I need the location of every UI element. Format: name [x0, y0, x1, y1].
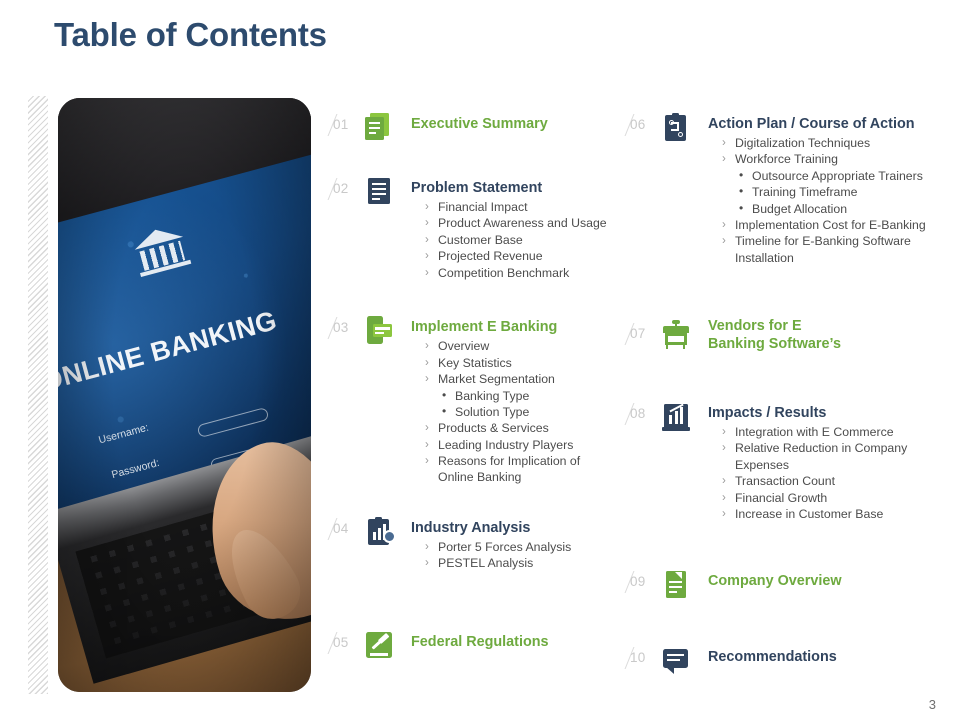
- chevron-bullet-icon: ›: [722, 506, 735, 522]
- list-item: ›Market Segmentation: [411, 371, 615, 387]
- list-item-label: Competition Benchmark: [438, 265, 615, 281]
- entry-title: Recommendations: [708, 645, 947, 666]
- list-item: ›Overview: [411, 338, 615, 354]
- toc-entry-06[interactable]: 06 Action Plan / Course of Action ›Digit…: [622, 112, 947, 266]
- entry-number-wrap: 05: [325, 630, 365, 650]
- entry-title: Executive Summary: [411, 112, 615, 133]
- entry-number: 06: [622, 117, 662, 132]
- chevron-bullet-icon: ›: [425, 265, 438, 281]
- dot-bullet-icon: •: [739, 168, 752, 184]
- entry-body: Impacts / Results ›Integration with E Co…: [708, 401, 947, 522]
- entry-number: 02: [325, 181, 365, 196]
- entry-number-wrap: 01: [325, 112, 365, 132]
- list-item-label: Reasons for Implication of Online Bankin…: [438, 453, 600, 486]
- list-item: ›PESTEL Analysis: [411, 555, 615, 571]
- documents-stack-icon: [365, 113, 393, 142]
- list-item-label: Banking Type: [455, 388, 529, 404]
- chevron-bullet-icon: ›: [425, 555, 438, 571]
- list-item: ›Implementation Cost for E-Banking: [708, 217, 947, 233]
- chevron-bullet-icon: ›: [425, 355, 438, 371]
- list-item-label: Financial Impact: [438, 199, 615, 215]
- document-lines-icon: [365, 177, 393, 206]
- entry-body: Recommendations: [708, 645, 947, 666]
- chevron-bullet-icon: ›: [425, 248, 438, 264]
- list-item-nested: •Banking Type: [411, 388, 615, 404]
- toc-entry-02[interactable]: 02 Problem Statement ›Financial Impact ›…: [325, 176, 615, 281]
- list-item-label: Budget Allocation: [752, 201, 847, 217]
- list-item-label: Transaction Count: [735, 473, 947, 489]
- list-item-label: Integration with E Commerce: [735, 424, 947, 440]
- photo-panel: ONLINE BANKING Username: Password: OTP:: [28, 96, 313, 694]
- chevron-bullet-icon: ›: [722, 217, 735, 233]
- entry-number-wrap: 02: [325, 176, 365, 196]
- entry-icon-cell: [662, 112, 708, 142]
- chevron-bullet-icon: ›: [425, 215, 438, 231]
- list-item: ›Increase in Customer Base: [708, 506, 947, 522]
- list-item-label: Outsource Appropriate Trainers: [752, 168, 923, 184]
- list-item: ›Leading Industry Players: [411, 437, 615, 453]
- list-item-label: Financial Growth: [735, 490, 947, 506]
- list-item: ›Key Statistics: [411, 355, 615, 371]
- entry-body: Federal Regulations: [411, 630, 615, 651]
- toc-entry-07[interactable]: 07 Vendors for E Banking Software’s: [622, 314, 947, 353]
- entry-number: 01: [325, 117, 365, 132]
- entry-icon-cell: [662, 645, 708, 675]
- toc-column-right: 06 Action Plan / Course of Action ›Digit…: [622, 112, 947, 675]
- entry-number: 05: [325, 635, 365, 650]
- chevron-bullet-icon: ›: [425, 232, 438, 248]
- chevron-bullet-icon: ›: [722, 490, 735, 506]
- list-item-label: PESTEL Analysis: [438, 555, 615, 571]
- list-item: ›Relative Reduction in Company Expenses: [708, 440, 947, 473]
- toc-entry-09[interactable]: 09 Company Overview: [622, 569, 947, 599]
- entry-icon-cell: [365, 176, 411, 206]
- toc-entry-05[interactable]: 05 Federal Regulations: [325, 630, 615, 660]
- entry-title: Problem Statement: [411, 176, 615, 197]
- entry-sublist: ›Integration with E Commerce ›Relative R…: [708, 424, 947, 522]
- entry-title: Company Overview: [708, 569, 947, 590]
- chevron-bullet-icon: ›: [425, 539, 438, 555]
- list-item-label: Market Segmentation: [438, 371, 615, 387]
- list-item-label: Leading Industry Players: [438, 437, 615, 453]
- entry-number-wrap: 10: [622, 645, 662, 665]
- entry-number-wrap: 04: [325, 516, 365, 536]
- entry-sublist: ›Porter 5 Forces Analysis ›PESTEL Analys…: [411, 539, 615, 572]
- list-item-label: Overview: [438, 338, 615, 354]
- entry-number-wrap: 07: [622, 314, 662, 341]
- list-item-label: Products & Services: [438, 420, 615, 436]
- entry-number: 08: [622, 406, 662, 421]
- chevron-bullet-icon: ›: [425, 437, 438, 453]
- entry-number: 03: [325, 320, 365, 335]
- entry-icon-cell: [662, 569, 708, 599]
- list-item: ›Porter 5 Forces Analysis: [411, 539, 615, 555]
- entry-icon-cell: [365, 516, 411, 546]
- entry-body: Vendors for E Banking Software’s: [708, 314, 947, 353]
- page-title: Table of Contents: [54, 16, 327, 54]
- chevron-bullet-icon: ›: [425, 453, 438, 469]
- list-item: ›Product Awareness and Usage: [411, 215, 615, 231]
- list-item: ›Financial Growth: [708, 490, 947, 506]
- list-item: ›Transaction Count: [708, 473, 947, 489]
- page-number: 3: [929, 697, 936, 712]
- entry-icon-cell: [365, 112, 411, 142]
- photo-vignette: [58, 98, 311, 692]
- entry-title: Impacts / Results: [708, 401, 947, 422]
- list-item-label: Customer Base: [438, 232, 615, 248]
- toc-entry-01[interactable]: 01 Executive Summary: [325, 112, 615, 142]
- entry-body: Industry Analysis ›Porter 5 Forces Analy…: [411, 516, 615, 572]
- list-item-label: Digitalization Techniques: [735, 135, 947, 151]
- entry-title: Vendors for E Banking Software’s: [708, 314, 858, 353]
- hatch-decoration: [28, 96, 48, 694]
- toc-entry-08[interactable]: 08 Impacts / Results ›Integration with E…: [622, 401, 947, 522]
- list-item: ›Products & Services: [411, 420, 615, 436]
- chevron-bullet-icon: ›: [425, 199, 438, 215]
- online-banking-photo: ONLINE BANKING Username: Password: OTP:: [58, 98, 311, 692]
- entry-title: Industry Analysis: [411, 516, 615, 537]
- entry-body: Executive Summary: [411, 112, 615, 133]
- entry-number: 09: [622, 574, 662, 589]
- entry-body: Implement E Banking ›Overview ›Key Stati…: [411, 315, 615, 486]
- toc-entry-10[interactable]: 10 Recommendations: [622, 645, 947, 675]
- entry-sublist: ›Digitalization Techniques ›Workforce Tr…: [708, 135, 947, 266]
- list-item-label: Key Statistics: [438, 355, 615, 371]
- list-item-nested: •Solution Type: [411, 404, 615, 420]
- chevron-bullet-icon: ›: [722, 473, 735, 489]
- list-item-label: Porter 5 Forces Analysis: [438, 539, 615, 555]
- entry-number-wrap: 08: [622, 401, 662, 421]
- speech-bubble-icon: [662, 646, 690, 675]
- entry-sublist: ›Financial Impact ›Product Awareness and…: [411, 199, 615, 281]
- list-item: ›Financial Impact: [411, 199, 615, 215]
- gavel-icon: [365, 631, 393, 660]
- list-item: ›Integration with E Commerce: [708, 424, 947, 440]
- list-item-label: Solution Type: [455, 404, 529, 420]
- toc-entry-03[interactable]: 03 Implement E Banking ›Overview ›Key St…: [325, 315, 615, 486]
- bar-chart-growth-icon: [662, 402, 690, 431]
- list-item-label: Increase in Customer Base: [735, 506, 947, 522]
- list-item-label: Relative Reduction in Company Expenses: [735, 440, 921, 473]
- entry-icon-cell: [365, 630, 411, 660]
- entry-body: Problem Statement ›Financial Impact ›Pro…: [411, 176, 615, 281]
- chevron-bullet-icon: ›: [722, 151, 735, 167]
- market-stall-icon: [662, 320, 690, 349]
- entry-number-wrap: 09: [622, 569, 662, 589]
- dot-bullet-icon: •: [739, 201, 752, 217]
- chevron-bullet-icon: ›: [425, 371, 438, 387]
- strategy-clipboard-icon: [662, 113, 690, 142]
- list-item: ›Workforce Training: [708, 151, 947, 167]
- chevron-bullet-icon: ›: [425, 420, 438, 436]
- mobile-card-icon: [365, 316, 393, 345]
- entry-sublist: ›Overview ›Key Statistics ›Market Segmen…: [411, 338, 615, 486]
- list-item-nested: •Outsource Appropriate Trainers: [708, 168, 947, 184]
- chevron-bullet-icon: ›: [722, 424, 735, 440]
- list-item-label: Workforce Training: [735, 151, 947, 167]
- entry-body: Company Overview: [708, 569, 947, 590]
- toc-column-left: 01 Executive Summary 02: [325, 112, 615, 660]
- entry-title: Implement E Banking: [411, 315, 615, 336]
- list-item-nested: •Budget Allocation: [708, 201, 947, 217]
- entry-body: Action Plan / Course of Action ›Digitali…: [708, 112, 947, 266]
- list-item-label: Implementation Cost for E-Banking: [735, 217, 947, 233]
- list-item: ›Reasons for Implication of Online Banki…: [411, 453, 615, 486]
- slide-root: Table of Contents ONLINE BANKING Usernam…: [0, 0, 960, 720]
- entry-number: 04: [325, 521, 365, 536]
- entry-icon-cell: [662, 314, 708, 349]
- list-item-label: Projected Revenue: [438, 248, 615, 264]
- list-item-label: Training Timeframe: [752, 184, 857, 200]
- analysis-clipboard-icon: [365, 517, 393, 546]
- entry-title: Federal Regulations: [411, 630, 615, 651]
- list-item: ›Customer Base: [411, 232, 615, 248]
- chevron-bullet-icon: ›: [425, 338, 438, 354]
- list-item: ›Digitalization Techniques: [708, 135, 947, 151]
- list-item-label: Timeline for E-Banking Software Installa…: [735, 233, 931, 266]
- list-item: ›Timeline for E-Banking Software Install…: [708, 233, 947, 266]
- chevron-bullet-icon: ›: [722, 440, 735, 456]
- list-item: ›Competition Benchmark: [411, 265, 615, 281]
- entry-number-wrap: 06: [622, 112, 662, 132]
- entry-icon-cell: [662, 401, 708, 431]
- list-item: ›Projected Revenue: [411, 248, 615, 264]
- chevron-bullet-icon: ›: [722, 135, 735, 151]
- entry-icon-cell: [365, 315, 411, 345]
- dot-bullet-icon: •: [739, 184, 752, 200]
- list-item-nested: •Training Timeframe: [708, 184, 947, 200]
- entry-title: Action Plan / Course of Action: [708, 112, 947, 133]
- entry-number-wrap: 03: [325, 315, 365, 335]
- entry-number: 10: [622, 650, 662, 665]
- toc-entry-04[interactable]: 04 Industry Analysis ›Porter 5 Forces An…: [325, 516, 615, 572]
- dot-bullet-icon: •: [442, 404, 455, 420]
- dot-bullet-icon: •: [442, 388, 455, 404]
- document-page-icon: [662, 570, 690, 599]
- chevron-bullet-icon: ›: [722, 233, 735, 249]
- entry-number: 07: [622, 326, 662, 341]
- list-item-label: Product Awareness and Usage: [438, 215, 615, 231]
